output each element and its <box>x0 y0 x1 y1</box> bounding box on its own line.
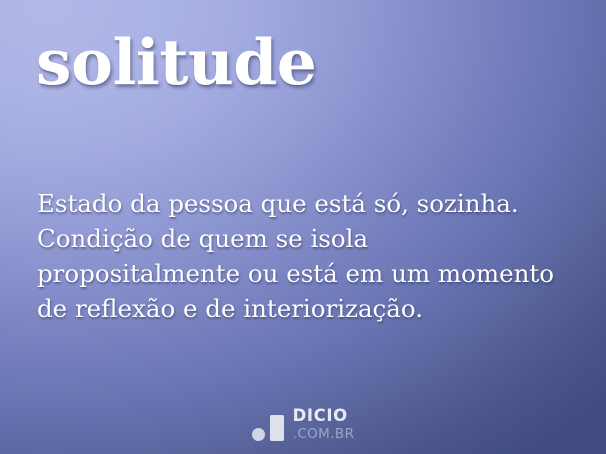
definition-card: solitude Estado da pessoa que está só, s… <box>0 0 606 454</box>
definition-line: Estado da pessoa que está só, sozinha. <box>37 186 590 221</box>
page-title: solitude <box>36 27 586 97</box>
definition-line: propositalmente ou está em um momento <box>37 256 590 291</box>
headword-container: solitude <box>36 27 586 97</box>
definition-text: Estado da pessoa que está só, sozinha. C… <box>37 186 590 326</box>
definition-line: Condição de quem se isola <box>37 221 590 256</box>
site-logo: DICIO .COM.BR <box>0 408 606 442</box>
logo-tld: .COM.BR <box>293 428 355 442</box>
bar-icon <box>270 415 284 441</box>
logo-name: DICIO <box>293 408 355 425</box>
logo-wordmark: DICIO .COM.BR <box>293 408 355 442</box>
definition-line: de reflexão e de interiorização. <box>37 291 590 326</box>
logo-mark <box>252 415 284 442</box>
logo-inner: DICIO .COM.BR <box>252 408 355 442</box>
circle-icon <box>252 428 265 441</box>
